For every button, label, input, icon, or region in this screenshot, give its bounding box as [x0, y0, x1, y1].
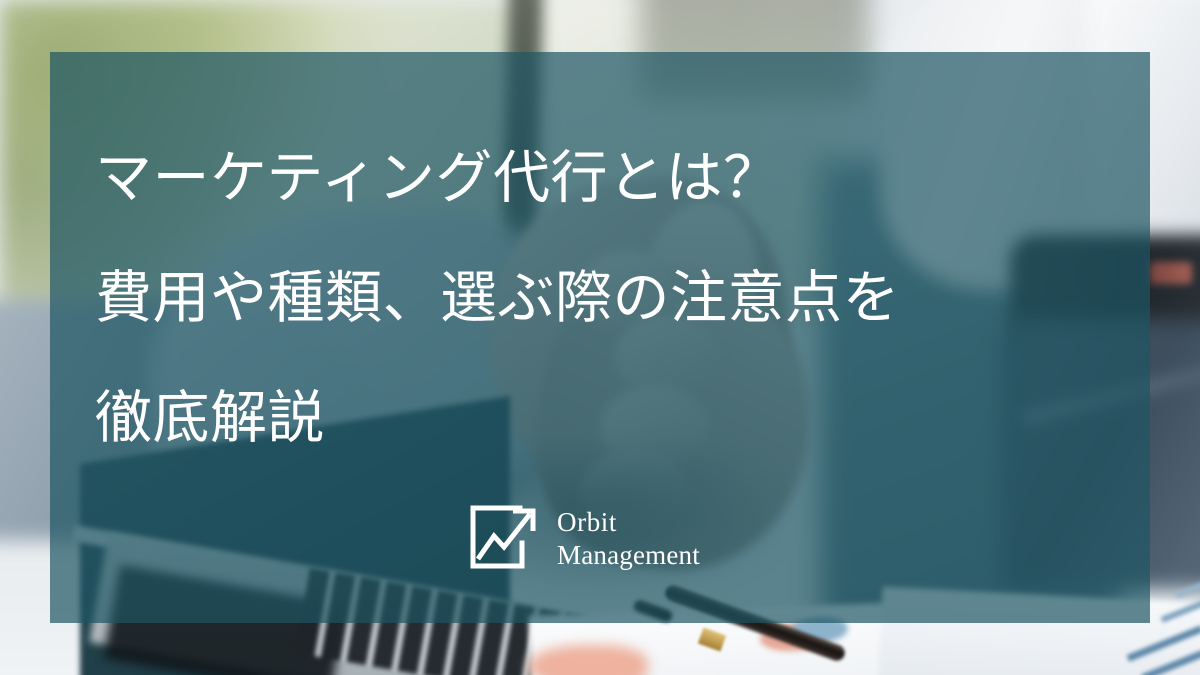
brand-name-line-2: Management: [557, 539, 700, 572]
headline-title: マーケティング代行とは？ 費用や種類、選ぶ際の注意点を 徹底解説: [95, 118, 1115, 478]
headline-line-3: 徹底解説: [95, 358, 1115, 478]
brand-logo: Orbit Management: [468, 503, 700, 575]
growth-chart-arrow-icon: [468, 503, 540, 575]
belt-buckle-accent: [1150, 262, 1192, 284]
headline-line-1: マーケティング代行とは？: [95, 118, 1115, 238]
brand-name-line-1: Orbit: [557, 506, 700, 539]
headline-line-2: 費用や種類、選ぶ際の注意点を: [95, 238, 1115, 358]
thumbnail-canvas: マーケティング代行とは？ 費用や種類、選ぶ際の注意点を 徹底解説 Orbit M…: [0, 0, 1200, 675]
document-chart-blob: [528, 645, 648, 675]
brand-name: Orbit Management: [557, 506, 700, 572]
